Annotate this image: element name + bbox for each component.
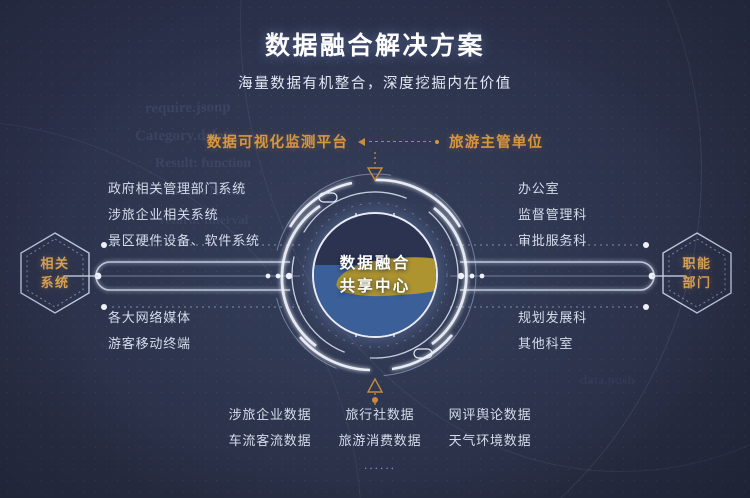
right-hexagon-label: 职能 部门 (660, 231, 734, 315)
right-bottom-department-list: 规划发展科 其他科室 (518, 305, 587, 357)
left-bottom-source-list: 各大网络媒体 游客移动终端 (108, 305, 191, 357)
list-item[interactable]: 旅游消费数据 (325, 430, 435, 449)
left-hexagon-line2: 系统 (40, 273, 69, 292)
bottom-data-section: 涉旅企业数据 旅行社数据 网评舆论数据 车流客流数据 旅游消费数据 天气环境数据… (215, 404, 545, 472)
list-item[interactable]: 游客移动终端 (108, 331, 191, 357)
list-item[interactable]: 各大网络媒体 (108, 305, 191, 331)
right-hexagon-badge[interactable]: 职能 部门 (660, 231, 734, 315)
list-item[interactable]: 规划发展科 (518, 305, 587, 331)
list-item[interactable]: 政府相关管理部门系统 (108, 176, 260, 202)
right-top-department-list: 办公室 监督管理科 审批服务科 (518, 176, 587, 254)
list-item[interactable]: 涉旅企业相关系统 (108, 202, 260, 228)
left-hexagon-badge[interactable]: 相关 系统 (18, 231, 92, 315)
bottom-data-grid: 涉旅企业数据 旅行社数据 网评舆论数据 车流客流数据 旅游消费数据 天气环境数据 (215, 404, 545, 449)
list-item[interactable]: 涉旅企业数据 (215, 404, 325, 423)
list-item[interactable]: 其他科室 (518, 331, 587, 357)
infographic-canvas: require.jsonp Category.delete Result: fu… (0, 0, 750, 498)
list-item[interactable]: 审批服务科 (518, 228, 587, 254)
list-item[interactable]: 车流客流数据 (215, 430, 325, 449)
data-fusion-hub[interactable]: 数据融合 共享中心 (272, 172, 478, 378)
right-hexagon-line1: 职能 (682, 254, 711, 273)
left-top-source-list: 政府相关管理部门系统 涉旅企业相关系统 景区硬件设备、软件系统 (108, 176, 260, 254)
list-item[interactable]: 景区硬件设备、软件系统 (108, 228, 260, 254)
right-hexagon-line2: 部门 (682, 273, 711, 292)
list-item[interactable]: 监督管理科 (518, 202, 587, 228)
left-hexagon-line1: 相关 (40, 254, 69, 273)
hub-inner-circle: 数据融合 共享中心 (314, 214, 436, 336)
bottom-ellipsis: ...... (215, 458, 545, 472)
list-item[interactable]: 天气环境数据 (435, 430, 545, 449)
left-hexagon-label: 相关 系统 (18, 231, 92, 315)
bottom-arrow-connector-icon (368, 379, 382, 405)
list-item[interactable]: 办公室 (518, 176, 587, 202)
list-item[interactable]: 旅行社数据 (325, 404, 435, 423)
hub-label-line2: 共享中心 (340, 275, 411, 298)
hub-label: 数据融合 共享中心 (314, 214, 436, 336)
list-item[interactable]: 网评舆论数据 (435, 404, 545, 423)
hub-label-line1: 数据融合 (340, 252, 411, 275)
